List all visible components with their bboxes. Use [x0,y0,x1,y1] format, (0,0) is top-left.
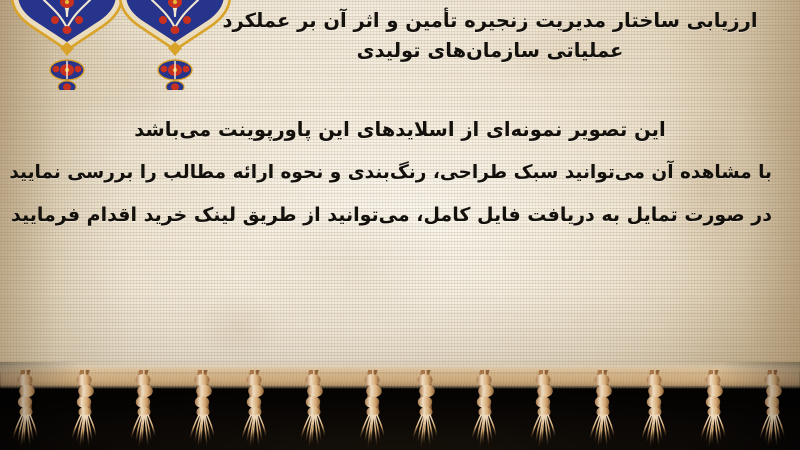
body-line-1: این تصویر نمونه‌ای از اسلایدهای این پاور… [28,108,772,151]
tassel [124,370,164,450]
tassel [694,370,734,450]
tassel [353,370,393,450]
presentation-slide: ارزیابی ساختار مدیریت زنجیره تأمین و اثر… [0,0,800,450]
body-line-3: در صورت تمایل به دریافت فایل کامل، می‌تو… [28,194,772,237]
tassel [465,370,505,450]
slide-title: ارزیابی ساختار مدیریت زنجیره تأمین و اثر… [210,6,770,66]
tassel [635,370,675,450]
carpet-tassel-fringe [0,362,800,450]
tassel [406,370,446,450]
title-line-2: عملیاتی سازمان‌های تولیدی [210,36,770,66]
slide-body: این تصویر نمونه‌ای از اسلایدهای این پاور… [28,108,772,237]
tassel [6,370,46,450]
tassel [65,370,105,450]
fringe-fuzz-texture [0,368,800,388]
body-line-2: با مشاهده آن می‌توانید سبک طراحی، رنگ‌بن… [28,151,772,194]
title-line-1: ارزیابی ساختار مدیریت زنجیره تأمین و اثر… [210,6,770,36]
slide-text-layer: ارزیابی ساختار مدیریت زنجیره تأمین و اثر… [0,0,800,372]
tassel [524,370,564,450]
tassel [583,370,623,450]
tassel [183,370,223,450]
tassel [294,370,334,450]
tassel [753,370,793,450]
tassel [235,370,275,450]
